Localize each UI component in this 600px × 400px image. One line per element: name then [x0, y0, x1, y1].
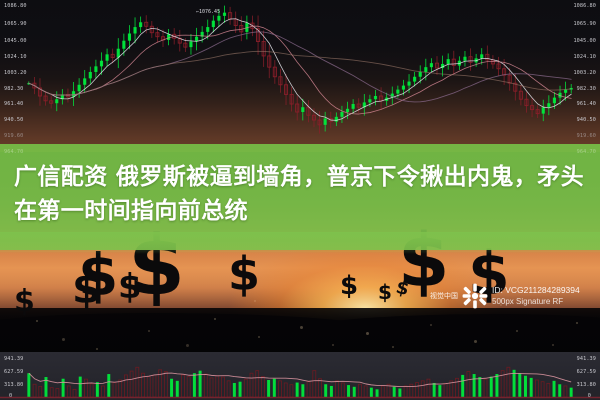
watermark-id: ID: VCG211284289394 [492, 285, 580, 296]
headline-text: 广信配资 俄罗斯被逼到墙角，普京下令揪出内鬼，矛头在第一时间指向前总统 [0, 160, 600, 228]
price-chart-panel: 1086.80 1065.90 1045.00 1024.10 1003.20 … [0, 0, 600, 152]
starburst-icon [462, 283, 488, 309]
price-axis-tick-right: 1045.00 [573, 38, 596, 44]
price-axis-tick-left: 919.60 [4, 133, 23, 139]
volume-axis-tick-left: 941.39 [4, 356, 23, 362]
dollar-sign-silhouette: $ [340, 276, 358, 297]
price-axis-tick-left-faded: 964.70 [4, 149, 23, 155]
price-axis-tick-right: 1024.10 [573, 54, 596, 60]
price-axis-tick-right: 1086.80 [573, 3, 596, 9]
volume-chart-panel: 941.39 627.59 313.80 0 941.39 627.59 313… [0, 352, 600, 400]
volume-axis-tick-left: 0 [9, 393, 12, 399]
dollar-sign-silhouette: $ [378, 284, 392, 300]
price-chart-canvas [0, 0, 600, 152]
watermark-license: 500px Signature RF [492, 296, 580, 307]
dollar-sign-silhouette: $ [78, 252, 118, 298]
price-axis-tick-left: 1065.90 [4, 21, 27, 27]
price-axis-tick-left: 1024.10 [4, 54, 27, 60]
price-axis-tick-right: 919.60 [577, 133, 596, 139]
price-axis-tick-right-faded: 964.70 [577, 149, 596, 155]
price-axis-tick-left: 1003.20 [4, 70, 27, 76]
price-axis-tick-left: 961.40 [4, 101, 23, 107]
price-peak-annotation: ←1076.45 [196, 9, 220, 15]
watermark: 视觉中国 ID: VCG211284289394 500px Signature… [430, 283, 580, 309]
volume-chart-canvas [0, 352, 600, 400]
price-axis-tick-left: 1086.80 [4, 3, 27, 9]
volume-axis-tick-right: 0 [588, 393, 591, 399]
price-axis-tick-right: 1065.90 [573, 21, 596, 27]
price-axis-tick-left: 940.50 [4, 117, 23, 123]
watermark-text-block: ID: VCG211284289394 500px Signature RF [492, 285, 580, 307]
volume-axis-tick-left: 313.80 [4, 382, 23, 388]
price-axis-tick-right: 1003.20 [573, 70, 596, 76]
price-axis-tick-right: 940.50 [577, 117, 596, 123]
price-axis-tick-right: 982.30 [577, 86, 596, 92]
price-axis-tick-right: 961.40 [577, 101, 596, 107]
green-banner-fade [0, 232, 600, 254]
volume-axis-tick-left: 627.59 [4, 369, 23, 375]
price-axis-tick-left: 1045.00 [4, 38, 27, 44]
dollar-sign-silhouette: $ [228, 256, 260, 293]
dollar-sign-silhouette: $ [14, 290, 35, 314]
price-axis-tick-left: 982.30 [4, 86, 23, 92]
volume-axis-tick-right: 941.39 [577, 356, 596, 362]
watermark-brand-cn: 视觉中国 [430, 291, 458, 301]
volume-axis-tick-right: 313.80 [577, 382, 596, 388]
volume-axis-tick-right: 627.59 [577, 369, 596, 375]
screenshot-root: $ $ $ $ $ $ $ $ $ $ $ 1086.80 [0, 0, 600, 400]
